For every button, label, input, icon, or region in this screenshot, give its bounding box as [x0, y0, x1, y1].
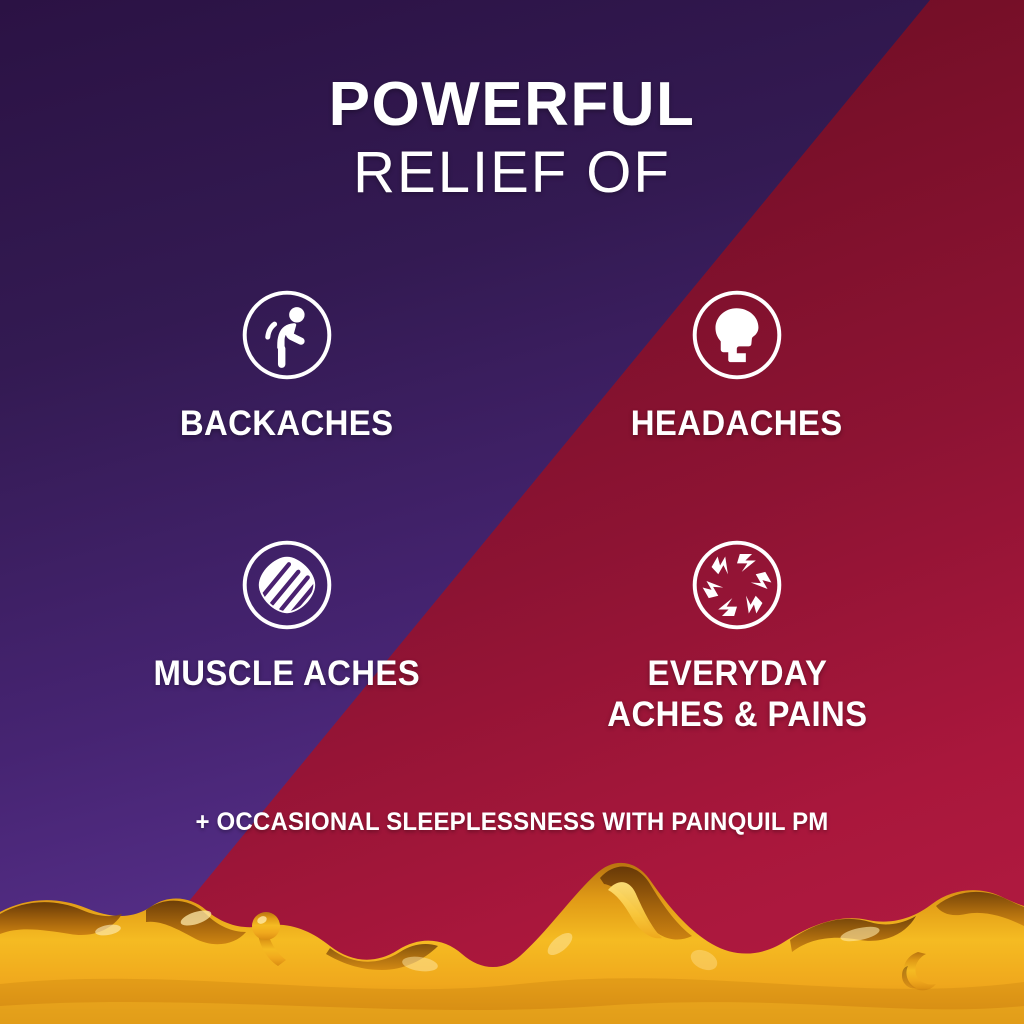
- radiating-pain-bolts-icon: [690, 538, 784, 632]
- head-profile-icon: [690, 288, 784, 382]
- hunched-person-backache-icon: [240, 288, 334, 382]
- muscle-fibers-icon: [240, 538, 334, 632]
- symptom-item-everyday-aches: EVERYDAYACHES & PAINS: [512, 538, 962, 788]
- symptom-label-headaches: HEADACHES: [631, 403, 843, 444]
- symptom-label-muscle-aches: MUSCLE ACHES: [154, 653, 421, 694]
- headline: POWERFUL RELIEF OF: [0, 74, 1024, 202]
- golden-liquid-splash: [0, 834, 1024, 1024]
- headline-line-2: RELIEF OF: [0, 144, 1024, 202]
- promo-banner: POWERFUL RELIEF OF BACKACHES HEAD: [0, 0, 1024, 1024]
- symptom-item-headaches: HEADACHES: [512, 288, 962, 538]
- symptom-item-muscle-aches: MUSCLE ACHES: [62, 538, 512, 788]
- headline-line-1: POWERFUL: [0, 74, 1024, 136]
- symptom-label-everyday-line2: ACHES & PAINS: [607, 695, 867, 734]
- symptom-label-everyday-aches: EVERYDAYACHES & PAINS: [607, 653, 867, 736]
- symptom-item-backaches: BACKACHES: [62, 288, 512, 538]
- footnote-text: + OCCASIONAL SLEEPLESSNESS WITH PAINQUIL…: [20, 808, 1003, 837]
- symptom-label-everyday-line1: EVERYDAY: [647, 654, 827, 693]
- symptom-grid: BACKACHES HEADACHES: [62, 288, 962, 788]
- symptom-label-backaches: BACKACHES: [180, 403, 394, 444]
